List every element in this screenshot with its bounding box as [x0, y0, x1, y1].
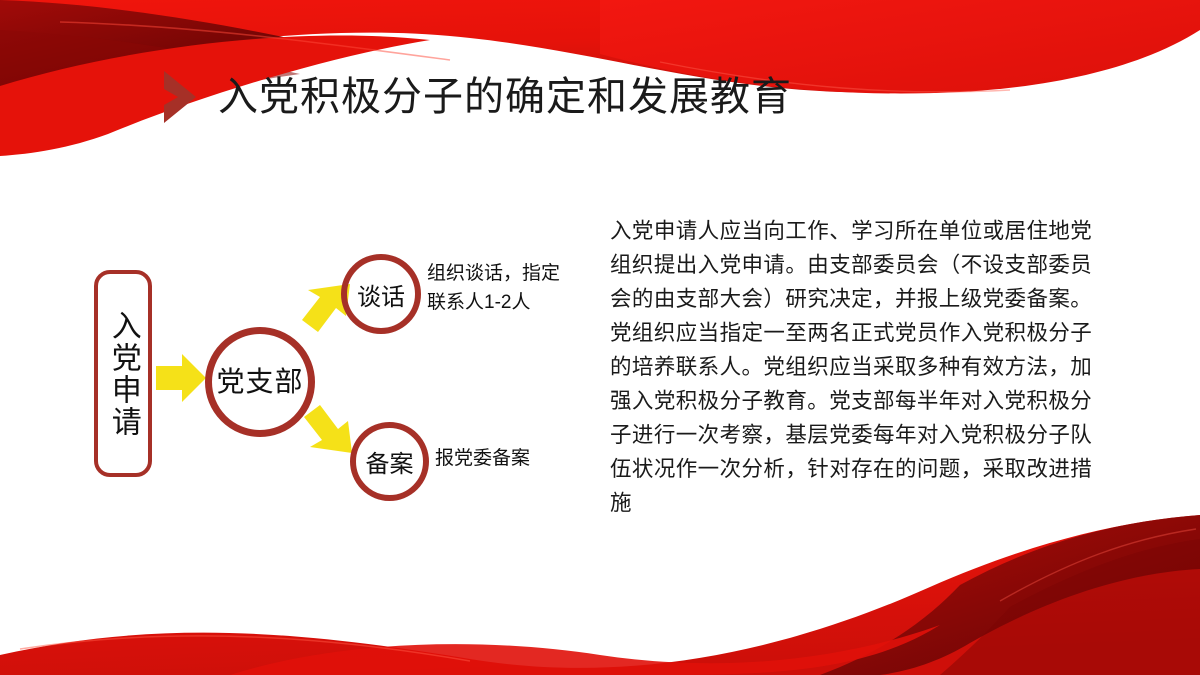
- body-paragraph: 入党申请人应当向工作、学习所在单位或居住地党组织提出入党申请。由支部委员会（不设…: [610, 214, 1092, 520]
- chevron-right-icon: [160, 71, 202, 123]
- flow-node-talk-description: 组织谈话，指定联系人1-2人: [427, 260, 577, 317]
- flow-node-record-description: 报党委备案: [435, 445, 595, 474]
- bottom-red-ribbon-decoration: [0, 515, 1200, 675]
- presentation-slide: 入党积极分子的确定和发展教育 入党申请 党支部 谈话 组织谈话，指定联系人1-2…: [0, 0, 1200, 675]
- flow-node-apply: 入党申请: [94, 270, 152, 477]
- flow-node-apply-label: 入党申请: [105, 310, 140, 438]
- arrow-down-right-icon: [296, 395, 358, 457]
- process-flow-diagram: 入党申请 党支部 谈话 组织谈话，指定联系人1-2人 备案 报党委备案: [80, 240, 580, 520]
- page-title: 入党积极分子的确定和发展教育: [218, 77, 792, 117]
- flow-node-record-label: 备案: [366, 444, 414, 479]
- slide-title-row: 入党积极分子的确定和发展教育: [160, 66, 792, 128]
- flow-node-party-branch-label: 党支部: [216, 366, 303, 397]
- flow-node-record: 备案: [350, 422, 429, 501]
- arrow-right-icon: [154, 350, 208, 406]
- flow-node-talk-label: 谈话: [357, 277, 405, 312]
- flow-node-talk: 谈话: [341, 254, 421, 334]
